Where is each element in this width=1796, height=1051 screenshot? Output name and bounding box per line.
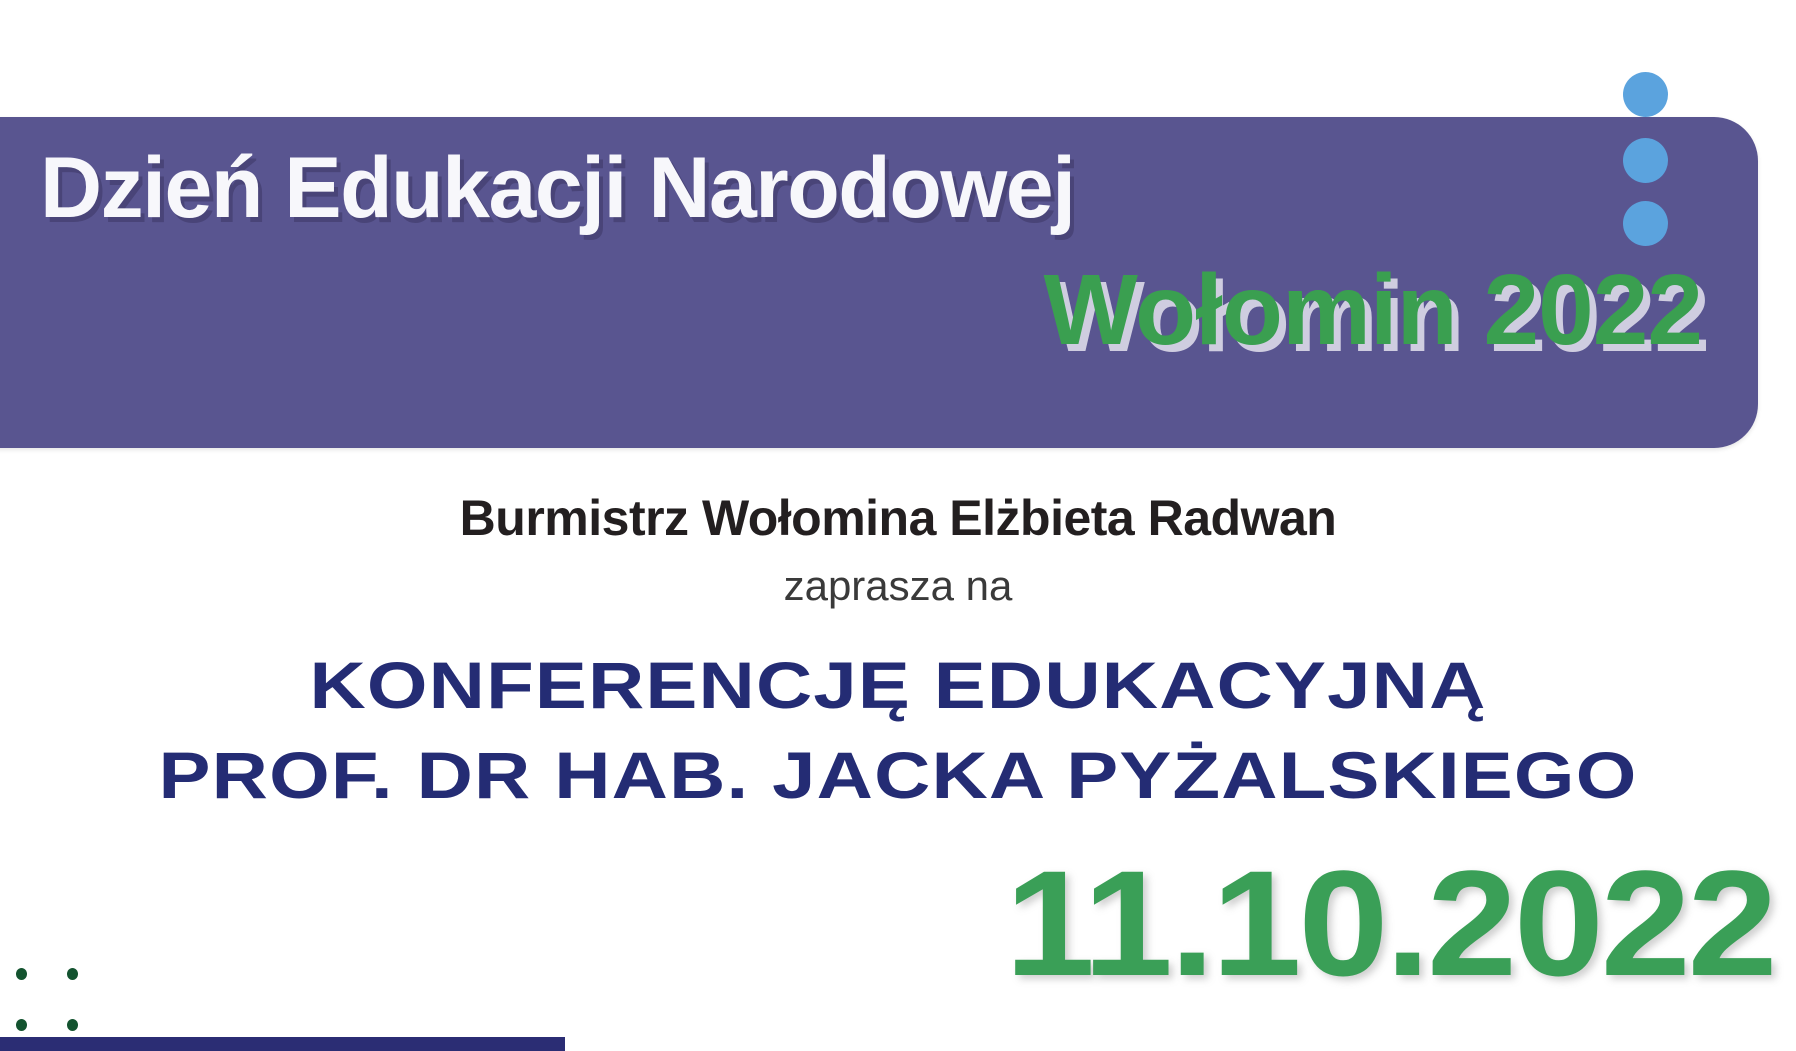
header-banner: Dzień Edukacji Narodowej Wołomin 2022 <box>0 117 1758 448</box>
circle-dot-icon-green-3 <box>16 1019 27 1031</box>
circle-dot-icon-blue-3 <box>1623 201 1668 246</box>
poster-canvas: Dzień Edukacji Narodowej Wołomin 2022 Bu… <box>0 0 1796 1051</box>
banner-title-secondary: Wołomin 2022 <box>1043 253 1702 368</box>
conference-title-line2: PROF. DR HAB. JACKA PYŻALSKIEGO <box>0 742 1796 808</box>
invitation-host-name: Burmistrz Wołomina Elżbieta Radwan <box>0 489 1796 547</box>
conference-title-line1: KONFERENCJĘ EDUKACYJNĄ <box>0 652 1796 718</box>
circle-dot-icon-green-4 <box>67 1019 78 1031</box>
circle-dot-icon-green-2 <box>67 968 78 980</box>
circle-dot-icon-green-1 <box>16 968 27 980</box>
event-date: 11.10.2022 <box>1005 848 1774 998</box>
circle-dot-icon-blue-1 <box>1623 72 1668 117</box>
banner-title-primary: Dzień Edukacji Narodowej <box>40 139 1074 238</box>
circle-dot-icon-blue-2 <box>1623 138 1668 183</box>
footer-accent-bar <box>0 1037 565 1051</box>
invitation-phrase: zaprasza na <box>0 562 1796 610</box>
